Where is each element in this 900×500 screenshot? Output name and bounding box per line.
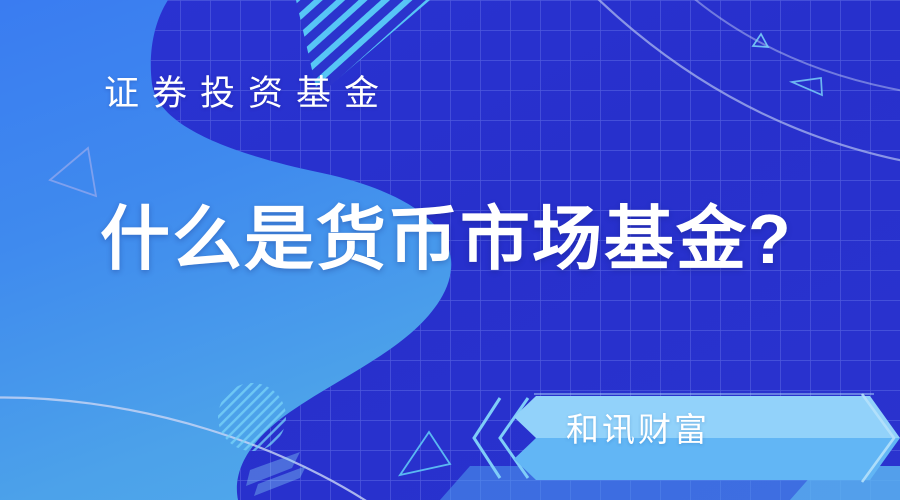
poster-subtitle: 证券投资基金: [104, 76, 392, 111]
arc-bottom-left: [0, 397, 420, 500]
brand-banner-label: 和讯财富: [566, 413, 710, 446]
arc-top-right-secondary: [620, 0, 900, 100]
poster-canvas: 证券投资基金 什么是货币市场基金? 和讯财富: [0, 0, 900, 500]
triangle-outline-left: [50, 148, 96, 196]
poster-headline: 什么是货币市场基金?: [100, 204, 793, 274]
stripe-shard-bottom: [246, 452, 306, 496]
triangle-outline-bottom: [400, 432, 450, 475]
striped-circle-center: [215, 380, 295, 460]
chevron-outline-outer: [474, 398, 500, 478]
triangle-outline-topright: [792, 78, 822, 95]
